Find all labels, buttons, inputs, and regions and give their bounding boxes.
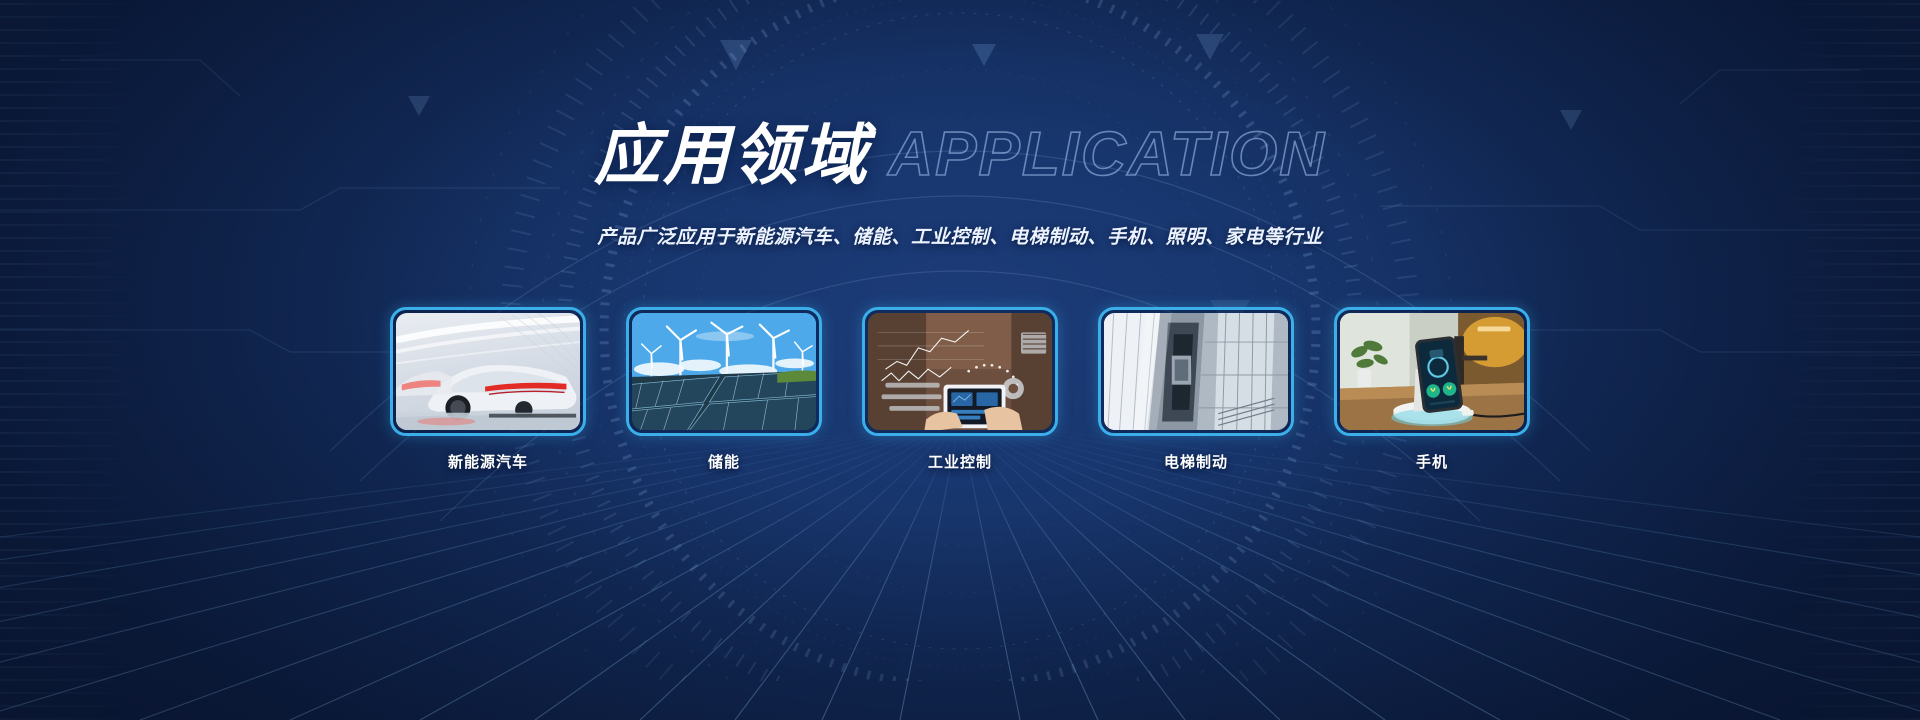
- list-item[interactable]: 电梯制动: [1098, 307, 1294, 472]
- application-card[interactable]: [390, 307, 586, 436]
- solar-panels-wind-turbines-photo: [632, 313, 816, 430]
- ev-car-wind-tunnel-photo: [396, 313, 580, 430]
- smartphone-wireless-charger-photo: [1340, 313, 1524, 430]
- page-title-en: APPLICATION: [888, 120, 1326, 189]
- list-item[interactable]: 工业控制: [862, 307, 1058, 472]
- application-card[interactable]: [862, 307, 1058, 436]
- page-subtitle: 产品广泛应用于新能源汽车、储能、工业控制、电梯制动、手机、照明、家电等行业: [0, 222, 1920, 249]
- banner-heading: 应用领域 APPLICATION 产品广泛应用于新能源汽车、储能、工业控制、电梯…: [0, 112, 1920, 249]
- application-card[interactable]: [1334, 307, 1530, 436]
- title-row: 应用领域 APPLICATION: [594, 112, 1326, 198]
- list-item[interactable]: 手机: [1334, 307, 1530, 472]
- elevator-shaft-photo: [1104, 313, 1288, 430]
- industrial-control-tablet-photo: [868, 313, 1052, 430]
- list-item[interactable]: 储能: [626, 307, 822, 472]
- application-card[interactable]: [626, 307, 822, 436]
- application-card-list: 新能源汽车: [0, 307, 1920, 472]
- application-banner: 应用领域 APPLICATION 产品广泛应用于新能源汽车、储能、工业控制、电梯…: [0, 0, 1920, 720]
- page-title: 应用领域: [594, 118, 870, 192]
- list-item[interactable]: 新能源汽车: [390, 307, 586, 472]
- card-label: 手机: [1334, 451, 1530, 472]
- card-label: 储能: [626, 451, 822, 472]
- application-card[interactable]: [1098, 307, 1294, 436]
- card-label: 工业控制: [862, 451, 1058, 472]
- card-label: 新能源汽车: [390, 451, 586, 472]
- card-label: 电梯制动: [1098, 451, 1294, 472]
